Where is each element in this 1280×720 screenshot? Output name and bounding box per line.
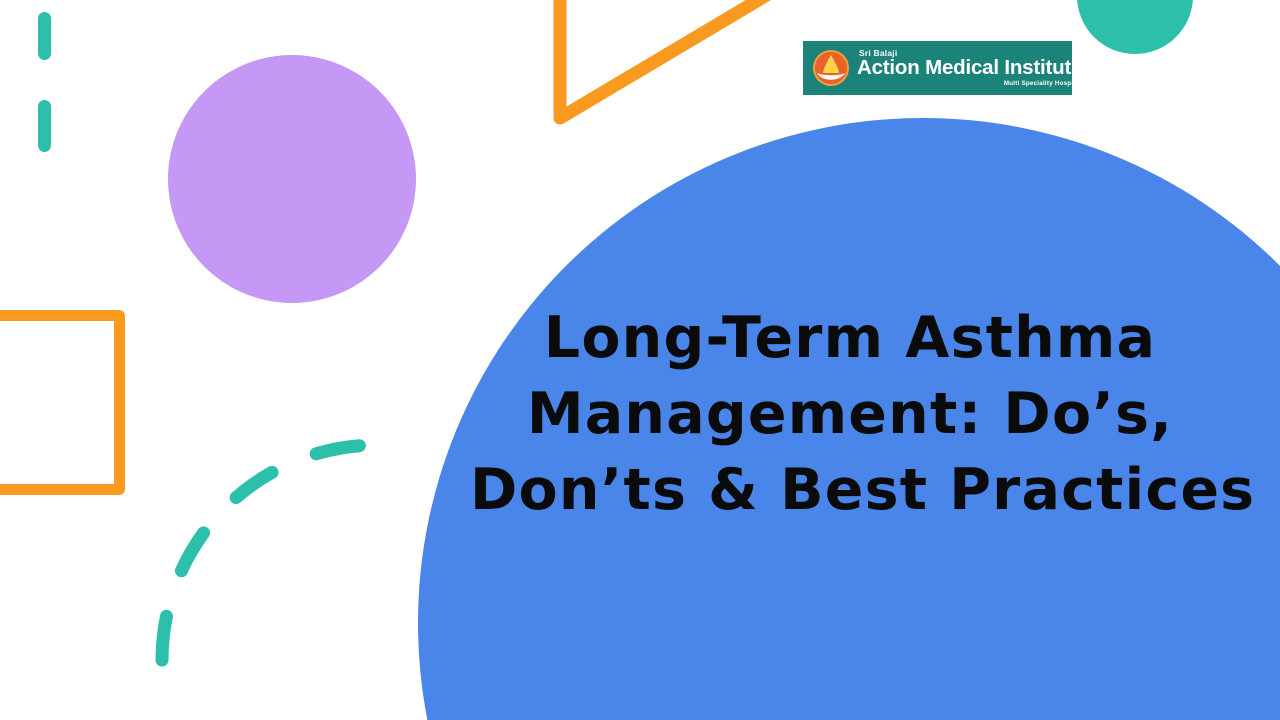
purple-circle-shape: [168, 55, 416, 303]
title-line-2: Management: Do’s,: [470, 376, 1230, 452]
hospital-logo: Sri Balaji Action Medical Institute Mult…: [803, 41, 1072, 95]
orange-chevron-shape: [540, 0, 810, 140]
title-line-1: Long-Term Asthma: [470, 300, 1230, 376]
logo-text-group: Sri Balaji Action Medical Institute Mult…: [857, 49, 1082, 87]
teal-circle-shape: [1077, 0, 1193, 54]
teal-dash-mark: [38, 12, 51, 60]
logo-tagline: Multi Speciality Hospital: [857, 81, 1081, 87]
sun-lotus-icon: [812, 49, 850, 87]
teal-dash-mark: [38, 100, 51, 152]
orange-square-outline: [0, 310, 125, 495]
title-line-3: Don’ts & Best Practices: [470, 452, 1230, 528]
logo-main-text: Action Medical Institute: [857, 58, 1082, 79]
teal-dashed-arc: [140, 410, 390, 670]
page-title: Long-Term Asthma Management: Do’s, Don’t…: [470, 300, 1230, 528]
title-slide: Sri Balaji Action Medical Institute Mult…: [0, 0, 1280, 720]
